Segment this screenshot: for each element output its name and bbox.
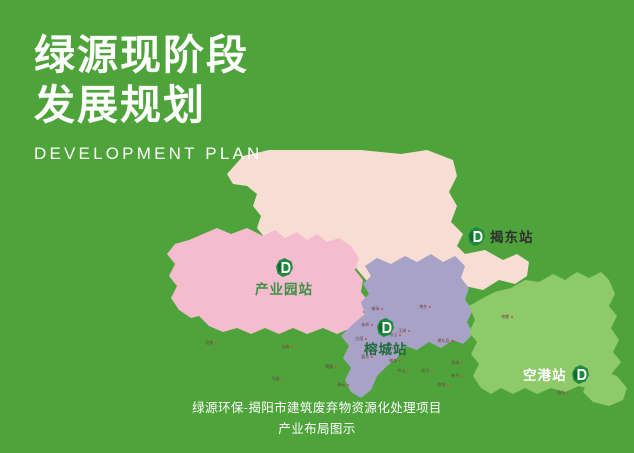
city-dot-icon: [215, 342, 218, 345]
city-dot-icon: [567, 392, 570, 395]
city-dot-icon: [429, 306, 432, 309]
city-name: 砲台: [557, 390, 565, 396]
city-marker: 登岗: [437, 382, 449, 388]
city-name: 梅云: [337, 382, 345, 388]
city-marker: 揭东县: [437, 338, 454, 344]
poster-root: 绿源现阶段 发展规划 DEVELOPMENT PLAN 玉湖 新亨 桂岭 白塔 …: [0, 0, 634, 453]
station-label: 产业园站: [255, 278, 313, 298]
city-name: 地都: [501, 314, 509, 320]
city-marker: 云路: [281, 344, 293, 350]
city-marker: 霖磐: [325, 364, 337, 370]
station-marker-rongcheng[interactable]: 榕城站: [364, 318, 408, 358]
station-label: 揭东站: [490, 226, 534, 246]
lvyuan-logo-icon: [572, 365, 589, 384]
city-dot-icon: [381, 308, 384, 311]
city-marker: 榕东: [389, 358, 401, 364]
city-marker: 锡场: [371, 306, 383, 312]
city-marker: 梅云: [337, 382, 349, 388]
city-dot-icon: [461, 362, 464, 365]
caption-line-2: 产业布局图示: [0, 419, 634, 440]
title-block: 绿源现阶段 发展规划 DEVELOPMENT PLAN: [34, 30, 374, 164]
city-name: 登岗: [437, 382, 445, 388]
city-name: 中山: [397, 368, 405, 374]
city-name: 新兴: [421, 368, 429, 374]
city-dot-icon: [347, 384, 350, 387]
city-dot-icon: [335, 366, 338, 369]
city-dot-icon: [408, 330, 411, 333]
page-title-line-1: 绿源现阶段: [34, 30, 374, 80]
city-name: 揭东县: [437, 338, 449, 344]
city-name: 渔湖: [451, 360, 459, 366]
city-dot-icon: [407, 370, 410, 373]
city-dot-icon: [399, 360, 402, 363]
city-marker: 砲台: [557, 390, 569, 396]
city-name: 锡场: [371, 306, 379, 312]
city-name: 白塔: [355, 336, 363, 342]
city-marker: 炮台: [419, 304, 431, 310]
city-dot-icon: [431, 370, 434, 373]
city-dot-icon: [461, 375, 464, 378]
station-label: 空港站: [523, 364, 567, 384]
city-marker: 渔湖: [451, 360, 463, 366]
city-dot-icon: [511, 316, 514, 319]
city-dot-icon: [281, 378, 284, 381]
station-marker-konggang[interactable]: 空港站: [523, 364, 589, 384]
city-name: 新亨: [451, 373, 459, 379]
page-subtitle-english: DEVELOPMENT PLAN: [34, 144, 374, 164]
lvyuan-logo-icon: [377, 318, 394, 337]
caption-line-1: 绿源环保-揭阳市建筑废弃物资源化处理项目: [0, 398, 634, 419]
station-label: 榕城站: [364, 338, 408, 358]
city-marker: 月城: [271, 376, 283, 382]
lvyuan-logo-icon: [468, 227, 485, 246]
city-marker: 龙尾: [205, 340, 217, 346]
station-marker-jiedong[interactable]: 揭东站: [468, 226, 534, 246]
lvyuan-logo-icon: [276, 258, 293, 277]
city-name: 云路: [281, 344, 289, 350]
city-name: 榕东: [389, 358, 397, 364]
city-dot-icon: [447, 384, 450, 387]
city-name: 月城: [271, 376, 279, 382]
caption-block: 绿源环保-揭阳市建筑废弃物资源化处理项目 产业布局图示: [0, 398, 634, 439]
city-dot-icon: [291, 346, 294, 349]
city-marker: 中山: [397, 368, 409, 374]
city-name: 炮台: [419, 304, 427, 310]
city-name: 霖磐: [325, 364, 333, 370]
city-marker: 新亨: [451, 373, 463, 379]
page-title-line-2: 发展规划: [34, 80, 374, 130]
city-name: 龙尾: [205, 340, 213, 346]
city-dot-icon: [451, 340, 454, 343]
city-marker: 新兴: [421, 368, 433, 374]
city-marker: 地都: [501, 314, 513, 320]
station-marker-chanyeyuan[interactable]: 产业园站: [255, 258, 313, 298]
